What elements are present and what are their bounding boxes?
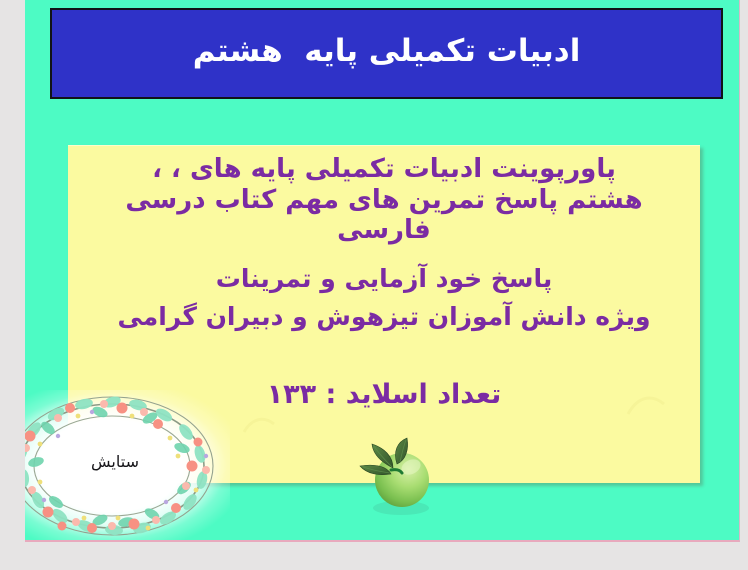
swoosh-decoration-left <box>242 414 276 436</box>
audience-line: ویژه دانش آموزان تیزهوش و دبیران گرامی <box>76 302 692 332</box>
slide-title-box: ادبیات تکمیلی پایه هشتم <box>50 8 723 99</box>
page-frame: ادبیات تکمیلی پایه هشتم پاورپوینت ادبیات… <box>0 0 748 570</box>
swoosh-decoration-right <box>626 392 666 418</box>
presentation-slide: ادبیات تکمیلی پایه هشتم پاورپوینت ادبیات… <box>25 0 740 542</box>
slide-title: ادبیات تکمیلی پایه هشتم <box>193 34 581 72</box>
answers-line: پاسخ خود آزمایی و تمرینات <box>76 264 692 294</box>
green-apple-illustration <box>355 434 441 518</box>
wreath-label: ستایش <box>25 452 230 471</box>
intro-paragraph: پاورپوینت ادبیات تکمیلی پایه های ، ، هشت… <box>76 154 692 246</box>
green-apple-icon <box>355 434 441 518</box>
floral-wreath: ستایش <box>25 390 230 542</box>
